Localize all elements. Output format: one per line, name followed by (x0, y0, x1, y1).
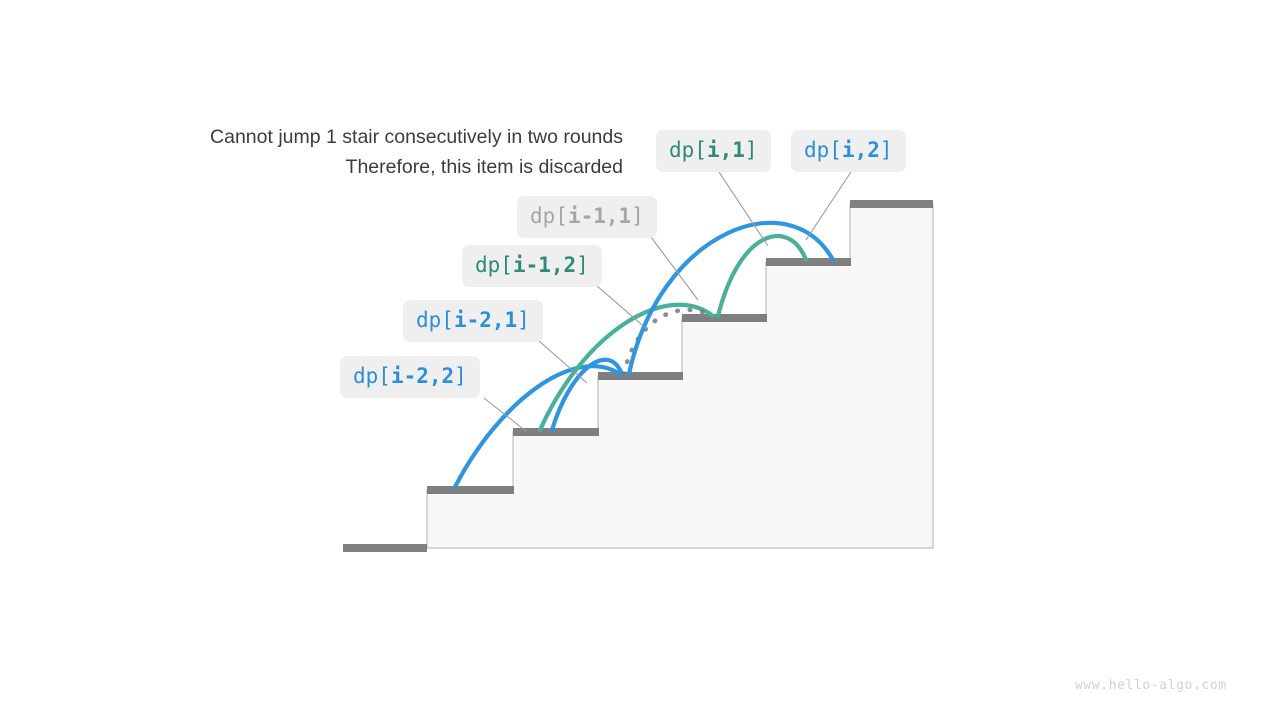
leader-dp-i-2 (806, 172, 851, 240)
label-index: i,2 (842, 138, 880, 162)
label-suffix: ] (631, 204, 644, 228)
label-prefix: dp[ (530, 204, 568, 228)
label-dp-i-minus-2-2: dp[i-2,2] (340, 356, 480, 398)
note-line-1: Cannot jump 1 stair consecutively in two… (112, 122, 623, 152)
label-suffix: ] (880, 138, 893, 162)
label-dp-i-1: dp[i,1] (656, 130, 771, 172)
leader-dp-i1-1 (651, 237, 698, 300)
label-dp-i-2: dp[i,2] (791, 130, 906, 172)
label-suffix: ] (454, 364, 467, 388)
label-index: i-1,2 (513, 253, 576, 277)
label-prefix: dp[ (804, 138, 842, 162)
label-index: i-1,1 (568, 204, 631, 228)
label-index: i-2,2 (391, 364, 454, 388)
label-dp-i-minus-2-1: dp[i-2,1] (403, 300, 543, 342)
label-prefix: dp[ (669, 138, 707, 162)
label-dp-i-minus-1-1-discarded: dp[i-1,1] (517, 196, 657, 238)
label-prefix: dp[ (353, 364, 391, 388)
label-prefix: dp[ (475, 253, 513, 277)
label-suffix: ] (517, 308, 530, 332)
note-line-2: Therefore, this item is discarded (112, 152, 623, 182)
watermark: www.hello-algo.com (1075, 678, 1227, 693)
label-prefix: dp[ (416, 308, 454, 332)
label-suffix: ] (576, 253, 589, 277)
diagram-canvas: Cannot jump 1 stair consecutively in two… (0, 0, 1280, 720)
label-index: i,1 (707, 138, 745, 162)
label-dp-i-minus-1-2: dp[i-1,2] (462, 245, 602, 287)
staircase-diagram (0, 0, 1280, 720)
label-suffix: ] (745, 138, 758, 162)
label-index: i-2,1 (454, 308, 517, 332)
